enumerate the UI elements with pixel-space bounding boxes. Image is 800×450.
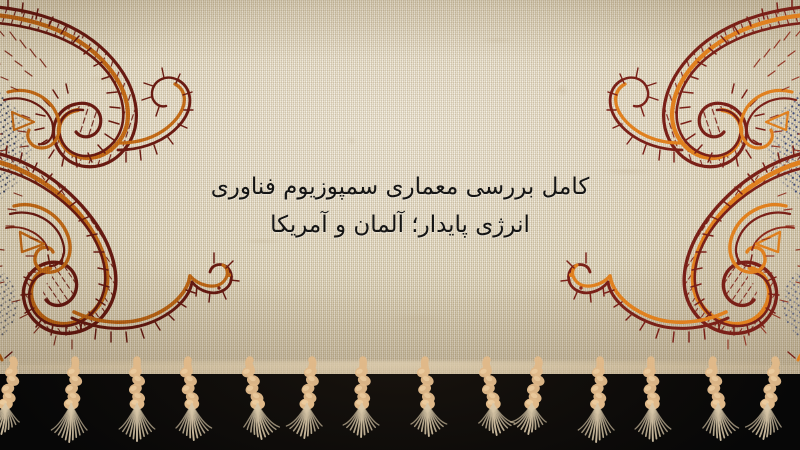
tassel bbox=[577, 360, 623, 450]
tassel bbox=[165, 360, 211, 450]
title-line-1: کامل بررسی معماری سمپوزیوم فناوری bbox=[0, 168, 800, 206]
tassel bbox=[52, 360, 98, 450]
knotted-tassel-fringe bbox=[0, 360, 800, 450]
tassel bbox=[114, 360, 160, 450]
title-line-2: انرژی پایدار؛ آلمان و آمریکا bbox=[0, 206, 800, 244]
tassel bbox=[0, 360, 36, 450]
tassel bbox=[628, 360, 674, 450]
tassel bbox=[515, 360, 561, 450]
tassel bbox=[752, 360, 798, 450]
tassel bbox=[690, 360, 736, 450]
tassel bbox=[340, 360, 386, 450]
tassel bbox=[464, 360, 510, 450]
tassel bbox=[289, 360, 335, 450]
title-text-block: کامل بررسی معماری سمپوزیوم فناوری انرژی … bbox=[0, 168, 800, 244]
tassel bbox=[402, 360, 448, 450]
tassel bbox=[227, 360, 273, 450]
title-slide: کامل بررسی معماری سمپوزیوم فناوری انرژی … bbox=[0, 0, 800, 450]
